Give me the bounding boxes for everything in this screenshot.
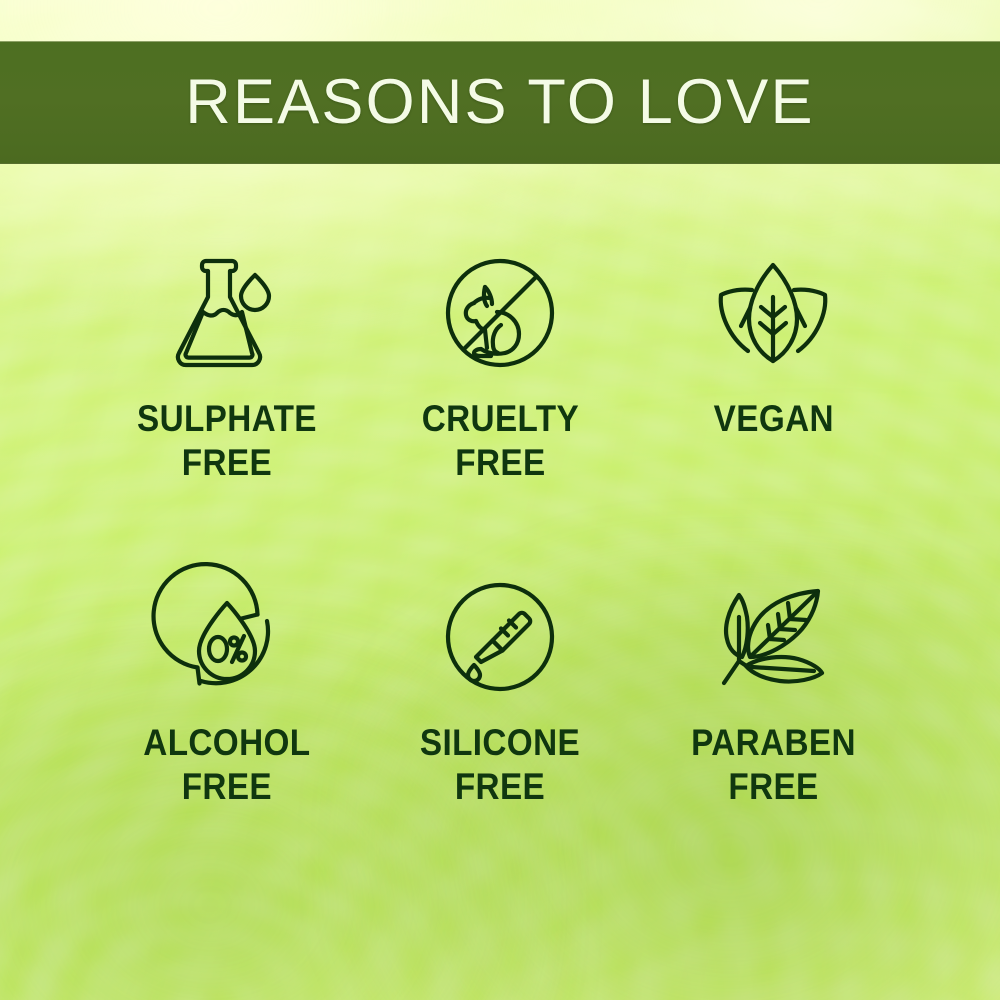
no-animal-testing-rabbit-icon bbox=[440, 250, 560, 375]
feature-item-cruelty-free: CRUELTY FREE bbox=[363, 250, 636, 484]
promo-graphic: REASONS TO LOVE SULPHATE FREE bbox=[0, 0, 1000, 1000]
feature-label: VEGAN bbox=[713, 397, 833, 441]
feature-label: SILICONE FREE bbox=[420, 721, 580, 808]
feature-label-line1: CRUELTY bbox=[421, 398, 578, 439]
feature-label: ALCOHOL FREE bbox=[143, 721, 310, 808]
feature-label-line2: FREE bbox=[421, 441, 578, 485]
dropper-pipette-icon bbox=[440, 574, 560, 699]
feature-label-line1: ALCOHOL bbox=[143, 722, 310, 763]
feature-label-line1: VEGAN bbox=[713, 398, 833, 439]
feature-item-vegan: VEGAN bbox=[637, 250, 910, 484]
feature-label: SULPHATE FREE bbox=[137, 397, 317, 484]
feature-item-paraben-free: PARABEN FREE bbox=[637, 574, 910, 808]
feature-item-silicone-free: SILICONE FREE bbox=[363, 574, 636, 808]
header-banner: REASONS TO LOVE bbox=[0, 42, 1000, 163]
feature-item-alcohol-free: ALCOHOL FREE bbox=[90, 574, 363, 808]
page-title: REASONS TO LOVE bbox=[185, 71, 814, 134]
feature-label-line1: SULPHATE bbox=[137, 398, 317, 439]
feature-label-line1: PARABEN bbox=[691, 722, 856, 763]
droplet-zero-percent-icon bbox=[167, 574, 287, 699]
feature-label-line1: SILICONE bbox=[420, 722, 580, 763]
feature-label-line2: FREE bbox=[143, 765, 310, 809]
flask-droplet-icon bbox=[167, 250, 287, 375]
feature-label-line2: FREE bbox=[137, 441, 317, 485]
feature-label-line2: FREE bbox=[691, 765, 856, 809]
feature-item-sulphate-free: SULPHATE FREE bbox=[90, 250, 363, 484]
features-grid: SULPHATE FREE bbox=[90, 250, 910, 809]
feature-label: PARABEN FREE bbox=[691, 721, 856, 808]
feature-label: CRUELTY FREE bbox=[421, 397, 578, 484]
feature-label-line2: FREE bbox=[420, 765, 580, 809]
three-leaves-icon bbox=[713, 250, 833, 375]
leaf-branch-icon bbox=[713, 574, 833, 699]
